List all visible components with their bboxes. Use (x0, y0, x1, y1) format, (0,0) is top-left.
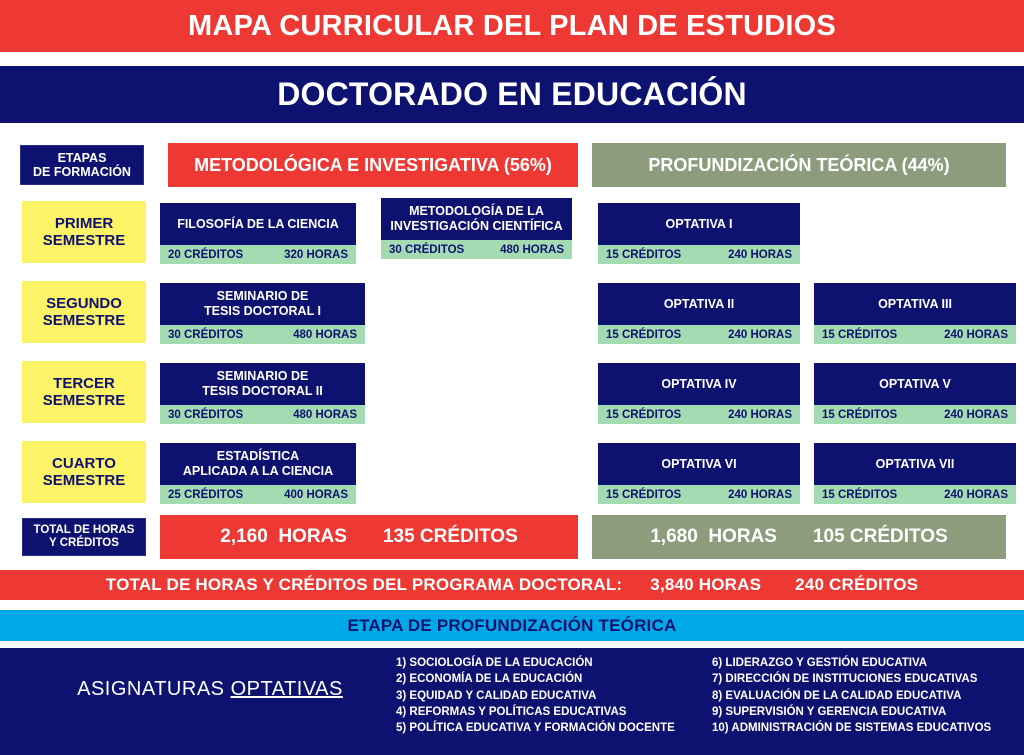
course-title: OPTATIVA IV (598, 363, 800, 405)
course-hours: 480 HORAS (293, 409, 357, 421)
course-card-estadistica-aplicada[interactable]: ESTADÍSTICA APLICADA A LA CIENCIA 25 CRÉ… (160, 443, 356, 504)
course-title: OPTATIVA VI (598, 443, 800, 485)
course-credits: 15 CRÉDITOS (822, 489, 897, 501)
course-meta: 15 CRÉDITOS 240 HORAS (814, 325, 1016, 344)
course-title: METODOLOGÍA DE LA INVESTIGACIÓN CIENTÍFI… (381, 198, 572, 240)
semester-segundo-line2: SEMESTRE (43, 312, 126, 329)
course-meta: 15 CRÉDITOS 240 HORAS (598, 245, 800, 264)
course-meta: 20 CRÉDITOS 320 HORAS (160, 245, 356, 264)
course-credits: 30 CRÉDITOS (168, 409, 243, 421)
electives-heading-underlined: OPTATIVAS (231, 678, 343, 700)
elective-item: 10) ADMINISTRACIÓN DE SISTEMAS EDUCATIVO… (712, 720, 991, 736)
course-credits: 15 CRÉDITOS (822, 329, 897, 341)
semester-tercer-line2: SEMESTRE (43, 392, 126, 409)
semester-label-tercer: TERCER SEMESTRE (22, 361, 146, 423)
course-meta: 25 CRÉDITOS 400 HORAS (160, 485, 356, 504)
stages-label-line1: ETAPAS (33, 151, 131, 165)
elective-item: 4) REFORMAS Y POLÍTICAS EDUCATIVAS (396, 704, 675, 720)
totals-row-label: TOTAL DE HORAS Y CRÉDITOS (22, 518, 146, 556)
course-meta: 15 CRÉDITOS 240 HORAS (814, 485, 1016, 504)
course-credits: 15 CRÉDITOS (606, 329, 681, 341)
course-meta: 15 CRÉDITOS 240 HORAS (598, 405, 800, 424)
course-card-optativa-v[interactable]: OPTATIVA V 15 CRÉDITOS 240 HORAS (814, 363, 1016, 424)
program-total-label: TOTAL DE HORAS Y CRÉDITOS DEL PROGRAMA D… (106, 575, 623, 595)
course-title: ESTADÍSTICA APLICADA A LA CIENCIA (160, 443, 356, 485)
program-total-band: TOTAL DE HORAS Y CRÉDITOS DEL PROGRAMA D… (0, 570, 1024, 600)
course-card-optativa-i[interactable]: OPTATIVA I 15 CRÉDITOS 240 HORAS (598, 203, 800, 264)
course-title: OPTATIVA VII (814, 443, 1016, 485)
semester-label-segundo: SEGUNDO SEMESTRE (22, 281, 146, 343)
course-card-optativa-vi[interactable]: OPTATIVA VI 15 CRÉDITOS 240 HORAS (598, 443, 800, 504)
totals-profundizacion-credits: 105 CRÉDITOS (813, 526, 948, 548)
course-title-line2: INVESTIGACIÓN CIENTÍFICA (390, 219, 562, 234)
electives-list-right: 6) LIDERAZGO Y GESTIÓN EDUCATIVA 7) DIRE… (712, 655, 991, 737)
course-hours: 320 HORAS (284, 249, 348, 261)
totals-metodologica-hours: 2,160 HORAS (220, 526, 347, 548)
header-metodologica-investigativa: METODOLÓGICA E INVESTIGATIVA (56%) (168, 143, 578, 187)
course-title: FILOSOFÍA DE LA CIENCIA (160, 203, 356, 245)
course-hours: 240 HORAS (728, 489, 792, 501)
totals-profundizacion-hours: 1,680 HORAS (650, 526, 777, 548)
course-title-line1: METODOLOGÍA DE LA (390, 204, 562, 219)
header-profundizacion-text: PROFUNDIZACIÓN TEÓRICA (44%) (648, 155, 949, 176)
elective-item: 6) LIDERAZGO Y GESTIÓN EDUCATIVA (712, 655, 991, 671)
header-metodologica-text: METODOLÓGICA E INVESTIGATIVA (56%) (194, 155, 552, 176)
course-card-optativa-iv[interactable]: OPTATIVA IV 15 CRÉDITOS 240 HORAS (598, 363, 800, 424)
course-meta: 30 CRÉDITOS 480 HORAS (381, 240, 572, 259)
course-credits: 15 CRÉDITOS (606, 249, 681, 261)
totals-metodologica-credits: 135 CRÉDITOS (383, 526, 518, 548)
course-hours: 240 HORAS (944, 329, 1008, 341)
semester-cuarto-line1: CUARTO (43, 455, 126, 472)
course-meta: 15 CRÉDITOS 240 HORAS (598, 485, 800, 504)
course-hours: 240 HORAS (944, 409, 1008, 421)
header-profundizacion-teorica: PROFUNDIZACIÓN TEÓRICA (44%) (592, 143, 1006, 187)
course-title: OPTATIVA II (598, 283, 800, 325)
course-meta: 15 CRÉDITOS 240 HORAS (814, 405, 1016, 424)
stages-of-formation-label: ETAPAS DE FORMACIÓN (20, 145, 144, 185)
electives-list-left: 1) SOCIOLOGÍA DE LA EDUCACIÓN 2) ECONOMÍ… (396, 655, 675, 737)
course-hours: 480 HORAS (293, 329, 357, 341)
course-title-line2: TESIS DOCTORAL I (204, 304, 321, 319)
course-hours: 400 HORAS (284, 489, 348, 501)
elective-item: 1) SOCIOLOGÍA DE LA EDUCACIÓN (396, 655, 675, 671)
program-total-hours: 3,840 HORAS (650, 575, 761, 595)
course-card-metodologia-investigacion[interactable]: METODOLOGÍA DE LA INVESTIGACIÓN CIENTÍFI… (381, 198, 572, 259)
course-credits: 20 CRÉDITOS (168, 249, 243, 261)
course-card-seminario-tesis-doctoral-i[interactable]: SEMINARIO DE TESIS DOCTORAL I 30 CRÉDITO… (160, 283, 365, 344)
course-title: OPTATIVA V (814, 363, 1016, 405)
elective-item: 2) ECONOMÍA DE LA EDUCACIÓN (396, 671, 675, 687)
course-card-filosofia-de-la-ciencia[interactable]: FILOSOFÍA DE LA CIENCIA 20 CRÉDITOS 320 … (160, 203, 356, 264)
course-hours: 480 HORAS (500, 244, 564, 256)
electives-heading-prefix: ASIGNATURAS (77, 678, 230, 700)
course-credits: 15 CRÉDITOS (606, 489, 681, 501)
elective-item: 3) EQUIDAD Y CALIDAD EDUCATIVA (396, 688, 675, 704)
course-credits: 15 CRÉDITOS (822, 409, 897, 421)
course-title-line1: SEMINARIO DE (202, 369, 322, 384)
totals-row-label-line1: TOTAL DE HORAS (34, 524, 135, 537)
course-meta: 30 CRÉDITOS 480 HORAS (160, 405, 365, 424)
course-title-line2: TESIS DOCTORAL II (202, 384, 322, 399)
semester-segundo-line1: SEGUNDO (43, 295, 126, 312)
course-meta: 15 CRÉDITOS 240 HORAS (598, 325, 800, 344)
semester-label-primer: PRIMER SEMESTRE (22, 201, 146, 263)
course-title-line1: ESTADÍSTICA (183, 449, 333, 464)
course-title-line2: APLICADA A LA CIENCIA (183, 464, 333, 479)
course-hours: 240 HORAS (728, 329, 792, 341)
semester-label-cuarto: CUARTO SEMESTRE (22, 441, 146, 503)
elective-item: 7) DIRECCIÓN DE INSTITUCIONES EDUCATIVAS (712, 671, 991, 687)
course-title-line1: SEMINARIO DE (204, 289, 321, 304)
semester-cuarto-line2: SEMESTRE (43, 472, 126, 489)
totals-profundizacion: 1,680 HORAS 105 CRÉDITOS (592, 515, 1006, 559)
course-title: SEMINARIO DE TESIS DOCTORAL I (160, 283, 365, 325)
elective-item: 5) POLÍTICA EDUCATIVA Y FORMACIÓN DOCENT… (396, 720, 675, 736)
stage-band-text: ETAPA DE PROFUNDIZACIÓN TEÓRICA (348, 616, 677, 636)
course-title: OPTATIVA I (598, 203, 800, 245)
course-hours: 240 HORAS (728, 409, 792, 421)
course-card-optativa-ii[interactable]: OPTATIVA II 15 CRÉDITOS 240 HORAS (598, 283, 800, 344)
course-hours: 240 HORAS (728, 249, 792, 261)
course-credits: 25 CRÉDITOS (168, 489, 243, 501)
course-card-optativa-vii[interactable]: OPTATIVA VII 15 CRÉDITOS 240 HORAS (814, 443, 1016, 504)
program-total-credits: 240 CRÉDITOS (795, 575, 918, 595)
stage-band: ETAPA DE PROFUNDIZACIÓN TEÓRICA (0, 610, 1024, 641)
course-credits: 30 CRÉDITOS (389, 244, 464, 256)
course-title: OPTATIVA III (814, 283, 1016, 325)
course-meta: 30 CRÉDITOS 480 HORAS (160, 325, 365, 344)
course-credits: 15 CRÉDITOS (606, 409, 681, 421)
electives-heading: ASIGNATURAS OPTATIVAS (60, 678, 360, 701)
course-card-optativa-iii[interactable]: OPTATIVA III 15 CRÉDITOS 240 HORAS (814, 283, 1016, 344)
course-hours: 240 HORAS (944, 489, 1008, 501)
curriculum-grid: ETAPAS DE FORMACIÓN METODOLÓGICA E INVES… (0, 0, 1024, 570)
semester-primer-line2: SEMESTRE (43, 232, 126, 249)
semester-tercer-line1: TERCER (43, 375, 126, 392)
totals-metodologica: 2,160 HORAS 135 CRÉDITOS (160, 515, 578, 559)
elective-item: 8) EVALUACIÓN DE LA CALIDAD EDUCATIVA (712, 688, 991, 704)
stages-label-line2: DE FORMACIÓN (33, 165, 131, 179)
totals-row-label-line2: Y CRÉDITOS (34, 537, 135, 550)
elective-item: 9) SUPERVISIÓN Y GERENCIA EDUCATIVA (712, 704, 991, 720)
course-credits: 30 CRÉDITOS (168, 329, 243, 341)
course-card-seminario-tesis-doctoral-ii[interactable]: SEMINARIO DE TESIS DOCTORAL II 30 CRÉDIT… (160, 363, 365, 424)
course-title: SEMINARIO DE TESIS DOCTORAL II (160, 363, 365, 405)
semester-primer-line1: PRIMER (43, 215, 126, 232)
